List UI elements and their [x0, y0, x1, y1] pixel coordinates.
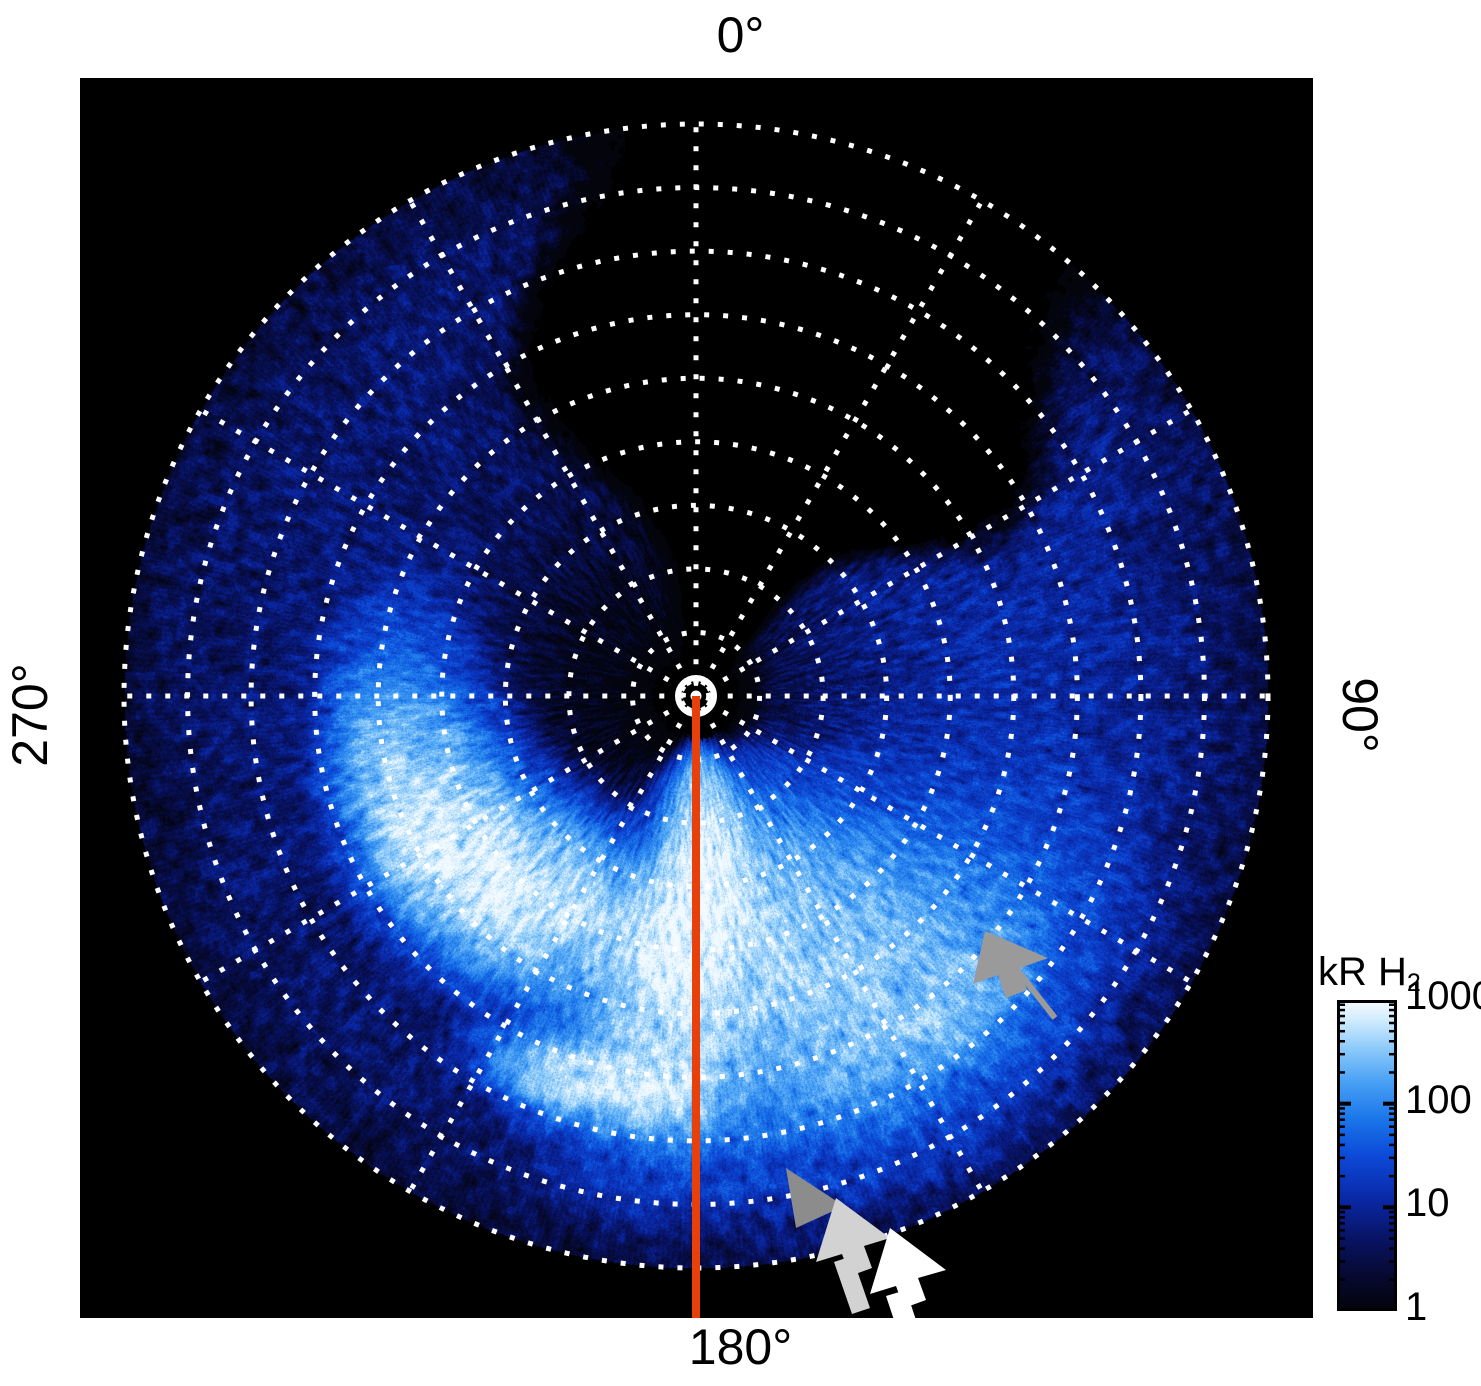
axis-label-right: 90° — [1335, 625, 1385, 805]
colorbar-title-text: kR H — [1318, 950, 1407, 994]
colorbar — [1337, 1000, 1397, 1311]
arrow-light-gray — [816, 1198, 890, 1314]
axis-label-top: 0° — [0, 10, 1481, 60]
polar-plot-area — [80, 78, 1313, 1318]
arrow-white — [870, 1228, 946, 1318]
annotation-arrows — [80, 78, 1313, 1318]
colorbar-ticks — [1337, 1000, 1397, 1311]
colorbar-tick-label-1000: 1000 — [1405, 974, 1481, 1019]
arrow-dark-gray-right — [973, 931, 1055, 1018]
colorbar-tick-label-10: 10 — [1405, 1181, 1450, 1226]
colorbar-tick-label-100: 100 — [1405, 1078, 1472, 1123]
axis-label-bottom: 180° — [0, 1322, 1481, 1372]
figure-root: 0° 180° 270° 90° kR H2 1000 100 10 1 — [0, 0, 1481, 1386]
colorbar-tick-label-1: 1 — [1405, 1285, 1427, 1330]
axis-label-left: 270° — [5, 625, 55, 805]
